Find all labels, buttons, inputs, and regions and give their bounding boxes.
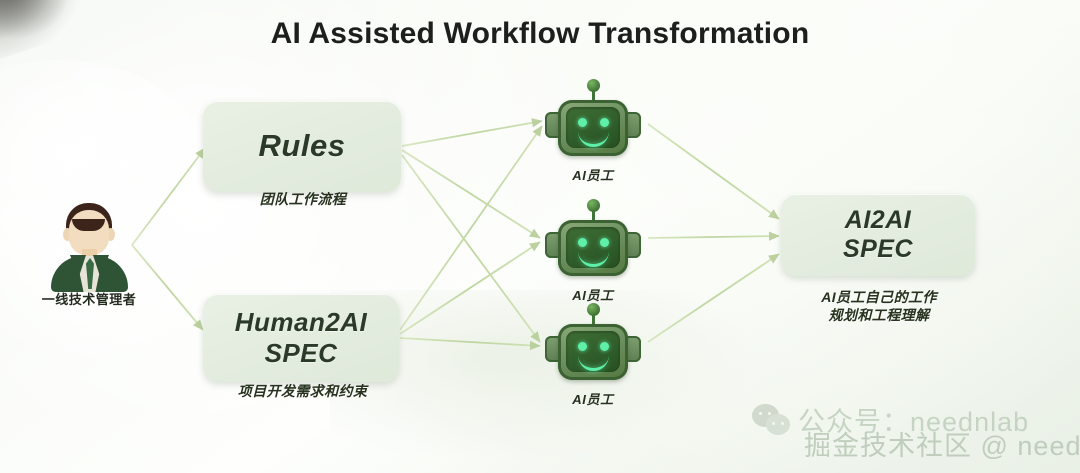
- card-ai2ai-title-line2: SPEC: [843, 235, 913, 265]
- watermark-secondary-text: 掘金技术社区 @ needn: [804, 424, 1080, 463]
- robot-agent-2-label: AI员工: [525, 285, 661, 304]
- robot-agent-1-label: AI员工: [525, 165, 661, 184]
- wechat-dot: [781, 422, 784, 425]
- person-avatar: [43, 192, 135, 292]
- card-human2ai-title-line2: SPEC: [235, 338, 368, 369]
- wire-rules-to-agent3: [402, 155, 540, 342]
- wechat-dot: [768, 412, 771, 415]
- wire-human2ai-to-agent1: [400, 126, 542, 330]
- wechat-icon: [752, 404, 796, 438]
- wire-agent3-to-output: [648, 254, 779, 342]
- wechat-bubble-large: [752, 404, 779, 427]
- card-rules[interactable]: Rules: [203, 101, 401, 192]
- robot-antenna-icon: [587, 199, 600, 212]
- wire-human2ai-to-agent2: [400, 242, 540, 334]
- card-ai2ai-caption-line1: AI员工自己的工作: [770, 288, 988, 306]
- person-avatar-label: 一线技术管理者: [4, 289, 174, 308]
- robot-eye-left-icon: [578, 238, 587, 247]
- page-title: AI Assisted Workflow Transformation: [0, 17, 1080, 51]
- card-rules-caption: 团队工作流程: [193, 190, 413, 208]
- card-ai2ai-caption: AI员工自己的工作 规划和工程理解: [770, 288, 988, 325]
- wire-person-to-human2ai: [132, 245, 203, 330]
- card-human2ai-title: Human2AI SPEC: [235, 307, 368, 368]
- robot-agent-1[interactable]: AI员工: [545, 79, 641, 165]
- robot-agent-2[interactable]: AI员工: [545, 199, 641, 285]
- robot-eye-right-icon: [600, 238, 609, 247]
- watermark-primary-text: 公众号：neednlab: [798, 400, 1029, 439]
- wechat-bubble-small: [766, 414, 790, 435]
- robot-antenna-icon: [587, 303, 600, 316]
- wire-agent1-to-output: [648, 124, 779, 219]
- card-rules-title: Rules: [259, 128, 346, 165]
- robot-antenna-icon: [587, 79, 600, 92]
- watermark: 公众号：neednlab 掘金技术社区 @ needn: [752, 398, 1080, 470]
- diagram-canvas: AI Assisted Workflow Transformation: [0, 0, 1080, 473]
- robot-eye-right-icon: [600, 342, 609, 351]
- card-ai2ai-spec[interactable]: AI2AI SPEC: [781, 194, 975, 276]
- card-ai2ai-caption-line2: 规划和工程理解: [770, 306, 988, 324]
- wire-agent2-to-output: [648, 236, 779, 238]
- robot-agent-3-label: AI员工: [525, 389, 661, 408]
- card-human2ai-title-line1: Human2AI: [235, 307, 368, 338]
- wire-rules-to-agent1: [402, 121, 542, 146]
- robot-eye-left-icon: [578, 118, 587, 127]
- robot-agent-3[interactable]: AI员工: [545, 303, 641, 389]
- wire-rules-to-agent2: [402, 150, 540, 238]
- wechat-dot: [772, 422, 775, 425]
- card-ai2ai-title: AI2AI SPEC: [843, 206, 913, 265]
- robot-eye-left-icon: [578, 342, 587, 351]
- wire-human2ai-to-agent3: [400, 338, 540, 346]
- wechat-dot: [759, 412, 762, 415]
- card-human2ai-spec[interactable]: Human2AI SPEC: [203, 294, 399, 382]
- card-ai2ai-title-line1: AI2AI: [843, 206, 913, 236]
- card-human2ai-caption: 项目开发需求和约束: [190, 382, 415, 400]
- robot-eye-right-icon: [600, 118, 609, 127]
